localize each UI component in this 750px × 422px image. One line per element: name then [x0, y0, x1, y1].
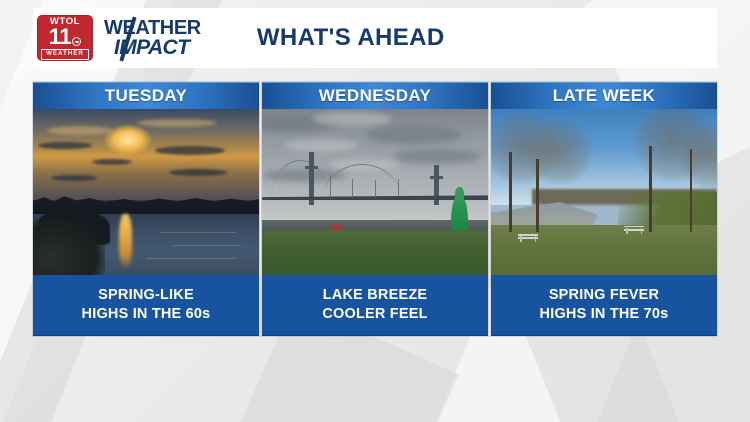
photo-cloud	[47, 126, 113, 135]
caption-line-2: COOLER FEEL	[322, 306, 427, 324]
bench-leg	[626, 228, 628, 234]
wtol-11-weather-logo[interactable]: WTOL 11 WEATHER	[37, 15, 93, 61]
photo-sunny-river	[491, 109, 717, 275]
photo-foreground-brush	[33, 219, 105, 275]
photo-tree-trunk	[509, 152, 512, 232]
bench-leg	[641, 228, 643, 234]
cbs-eye-icon	[72, 37, 81, 46]
photo-cloud	[92, 159, 132, 165]
bench-leg	[520, 236, 522, 242]
photo-bridge-hanger	[352, 179, 353, 199]
day-label: WEDNESDAY	[319, 86, 432, 106]
page-title: WHAT'S AHEAD	[257, 24, 445, 52]
forecast-panel-wednesday[interactable]: WEDNESDAY LAKE BREEZ	[262, 82, 488, 336]
photo-ripple	[146, 258, 236, 259]
photo-cloud	[285, 139, 359, 152]
caption-line-1: LAKE BREEZE	[323, 287, 428, 305]
photo-tree-trunk	[690, 149, 693, 232]
caption-line-1: SPRING-LIKE	[98, 287, 194, 305]
logo-tagline: WEATHER	[41, 49, 89, 60]
photo-bridge-hanger	[330, 175, 331, 198]
bench-leg	[535, 236, 537, 242]
logo-channel-number: 11	[49, 27, 71, 47]
weather-impact-brand: WEATHER IMPACT	[104, 19, 201, 58]
photo-suspension-bridge	[262, 109, 488, 275]
photo-tree-trunk	[649, 146, 652, 232]
photo-bridge-hanger	[375, 180, 376, 198]
photo-cloud	[137, 119, 217, 127]
caption-late-week: SPRING FEVER HIGHS IN THE 70s	[491, 275, 717, 336]
photo-cloud	[366, 126, 462, 144]
caption-line-2: HIGHS IN THE 60s	[82, 306, 211, 324]
day-header-wednesday: WEDNESDAY	[262, 82, 488, 109]
forecast-panel-late-week[interactable]: LATE WEEK	[491, 82, 717, 336]
day-label: LATE WEEK	[553, 86, 655, 106]
day-header-late-week: LATE WEEK	[491, 82, 717, 109]
caption-line-1: SPRING FEVER	[549, 287, 659, 305]
photo-ripple	[173, 245, 241, 246]
caption-line-2: HIGHS IN THE 70s	[540, 306, 669, 324]
photo-ripple	[160, 232, 237, 233]
photo-cloud	[393, 149, 481, 164]
day-header-tuesday: TUESDAY	[33, 82, 259, 109]
photo-grass-foreground	[491, 225, 717, 275]
forecast-panel-tuesday[interactable]: TUESDAY SPRING-LIKE HIGHS IN THE 60s	[33, 82, 259, 336]
caption-tuesday: SPRING-LIKE HIGHS IN THE 60s	[33, 275, 259, 336]
header-bar: WTOL 11 WEATHER WEATHER IMPACT WHAT'S AH…	[33, 8, 717, 68]
photo-cloud	[155, 146, 225, 155]
photo-tree-trunk	[536, 159, 539, 232]
caption-wednesday: LAKE BREEZE COOLER FEEL	[262, 275, 488, 336]
brand-line-1: WEATHER	[104, 19, 201, 37]
photo-park-bench	[624, 226, 644, 234]
photo-sun-reflection	[119, 214, 132, 269]
photo-cloud	[169, 169, 227, 176]
forecast-panel-group: TUESDAY SPRING-LIKE HIGHS IN THE 60s	[33, 82, 717, 336]
photo-bridge-hanger	[398, 179, 399, 197]
photo-sunset-over-lake	[33, 109, 259, 275]
day-label: TUESDAY	[105, 86, 187, 106]
photo-park-bench	[518, 234, 538, 242]
logo-channel-row: 11	[49, 27, 81, 47]
photo-grass-foreground	[262, 230, 488, 275]
photo-tree-canopy	[523, 119, 595, 185]
